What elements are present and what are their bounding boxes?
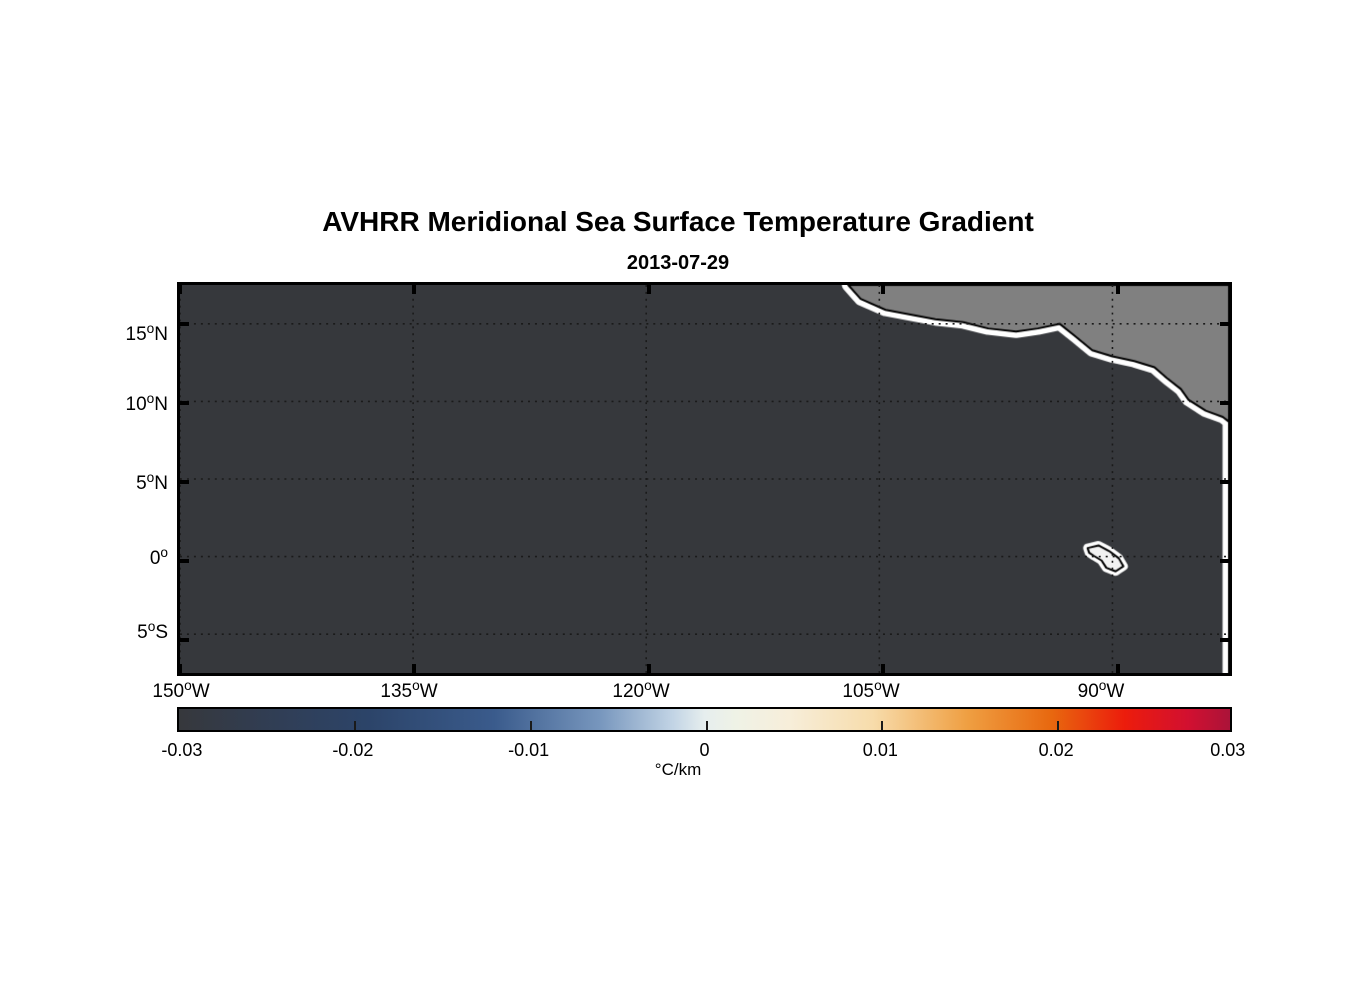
colorbar-tick [530,721,532,730]
colorbar[interactable] [177,707,1232,732]
colorbar-tick-label: 0.02 [1039,740,1074,761]
xtick-mark [647,285,651,294]
ytick-label-5s: 5oS [137,622,168,644]
ytick-mark [1220,401,1229,405]
colorbar-tick-label: -0.02 [332,740,373,761]
ytick-mark [180,322,189,326]
ytick-mark [180,480,189,484]
colorbar-tick [881,721,883,730]
colorbar-tick [1057,721,1059,730]
ytick-label-10n: 10oN [126,394,168,416]
xtick-mark [881,285,885,294]
xtick-label-105w: 105oW [842,681,899,703]
xtick-mark [178,664,182,673]
figure-date-subtitle: 2013-07-29 [0,252,1356,275]
xtick-mark [1116,285,1120,294]
sst-gradient-heatmap [180,285,1229,673]
xtick-mark [881,664,885,673]
xtick-label-135w: 135oW [380,681,437,703]
colorbar-tick [354,721,356,730]
colorbar-tick-label: 0.03 [1210,740,1245,761]
ytick-mark [1220,559,1229,563]
xtick-label-120w: 120oW [612,681,669,703]
xtick-label-90w: 90oW [1078,681,1125,703]
ytick-mark [180,559,189,563]
colorbar-unit-label: °C/km [0,760,1356,780]
colorbar-tick-label: -0.01 [508,740,549,761]
xtick-mark [412,664,416,673]
colorbar-tick-label: -0.03 [161,740,202,761]
colorbar-tick-label: 0 [699,740,709,761]
page-title: AVHRR Meridional Sea Surface Temperature… [0,206,1356,238]
colorbar-tick-label: 0.01 [863,740,898,761]
map-plot-area[interactable] [177,282,1232,676]
xtick-mark [412,285,416,294]
ytick-mark [1220,480,1229,484]
xtick-mark [1116,664,1120,673]
ytick-mark [1220,638,1229,642]
ytick-mark [180,401,189,405]
colorbar-tick [706,721,708,730]
ytick-mark [1220,322,1229,326]
xtick-mark [647,664,651,673]
ytick-label-0: 0o [150,548,168,570]
colorbar-gradient-fill [179,709,1230,730]
ytick-mark [180,638,189,642]
xtick-label-150w: 150oW [152,681,209,703]
ytick-label-5n: 5oN [136,473,168,495]
ytick-label-15n: 15oN [126,324,168,346]
xtick-mark [178,285,182,294]
